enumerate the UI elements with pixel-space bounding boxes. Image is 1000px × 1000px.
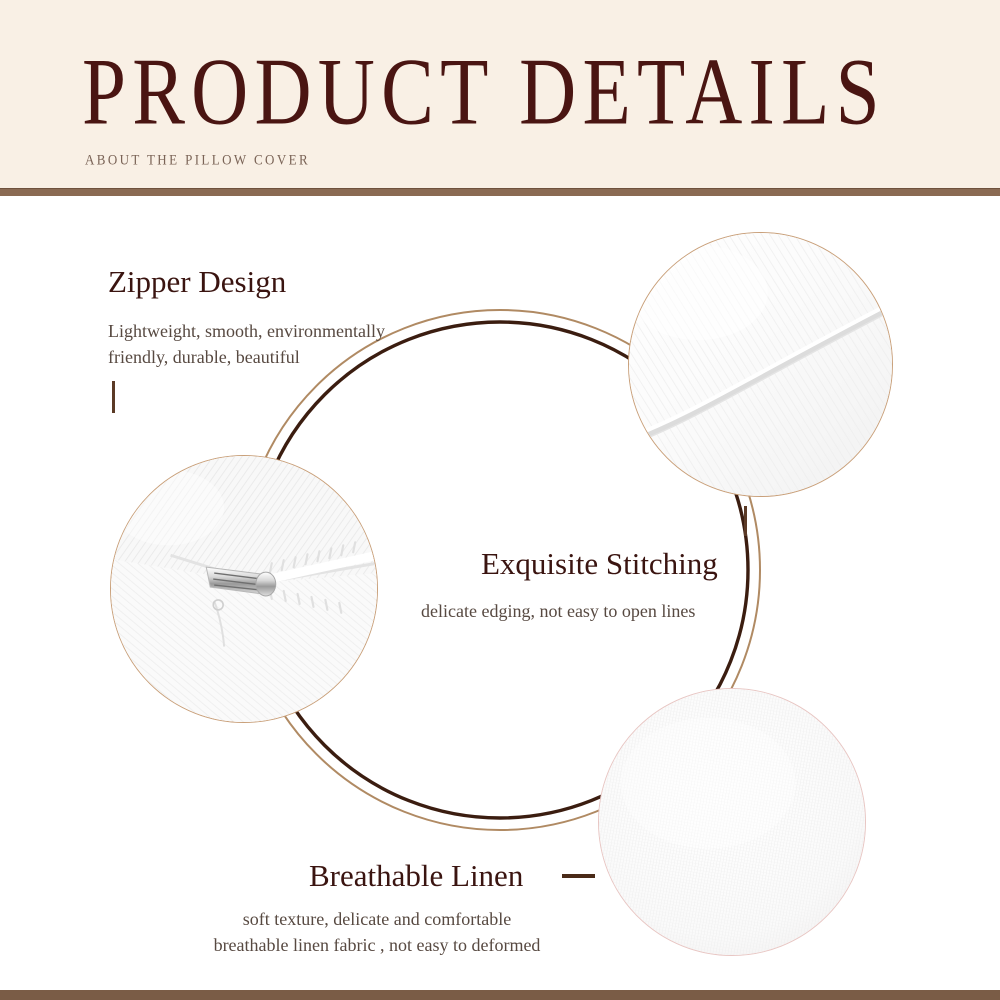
feature-description-zipper: Lightweight, smooth, environmentally fri… bbox=[108, 318, 385, 370]
zipper-photo-artwork bbox=[111, 456, 377, 722]
connector-tick-stitching bbox=[744, 506, 747, 536]
zipper-closeup-photo bbox=[110, 455, 378, 723]
footer-divider bbox=[0, 990, 1000, 1000]
feature-title-stitching: Exquisite Stitching bbox=[481, 548, 718, 579]
feature-title-zipper: Zipper Design bbox=[108, 266, 286, 297]
connector-tick-zipper bbox=[112, 381, 115, 413]
linen-texture-photo bbox=[598, 688, 866, 956]
connector-dash-linen bbox=[562, 874, 595, 878]
stitching-photo-artwork bbox=[629, 233, 892, 496]
feature-title-linen: Breathable Linen bbox=[309, 860, 523, 891]
feature-description-stitching: delicate edging, not easy to open lines bbox=[421, 598, 695, 624]
linen-photo-artwork bbox=[599, 689, 865, 955]
product-details-infographic: PRODUCT DETAILS ABOUT THE PILLOW COVER bbox=[0, 0, 1000, 1000]
stitching-closeup-photo bbox=[628, 232, 893, 497]
feature-description-linen: soft texture, delicate and comfortable b… bbox=[187, 906, 567, 958]
